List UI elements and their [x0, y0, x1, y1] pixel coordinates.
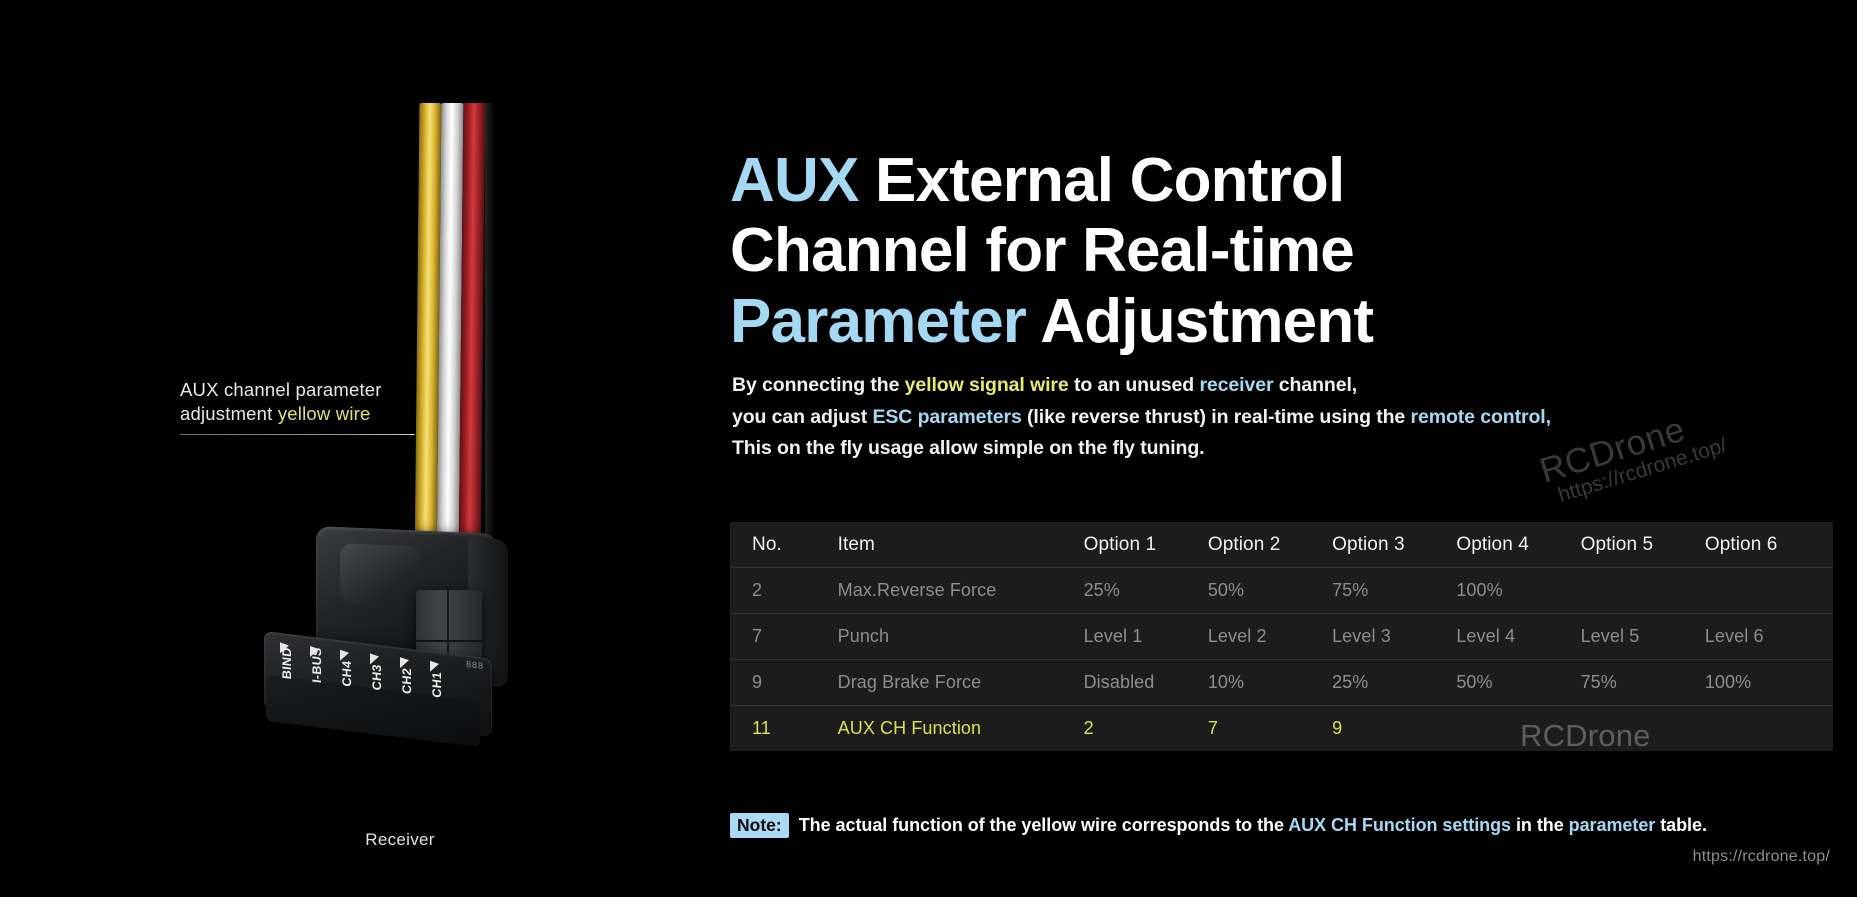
pin-label: CH1 [430, 639, 444, 699]
cell-no: 7 [730, 614, 838, 660]
headline-line2: Channel for Real-time [730, 216, 1354, 285]
cell-item: Max.Reverse Force [838, 568, 1084, 614]
table-row: 2 Max.Reverse Force 25% 50% 75% 100% [730, 568, 1833, 614]
table-row: 7 Punch Level 1 Level 2 Level 3 Level 4 … [730, 614, 1833, 660]
cell-option5 [1581, 568, 1705, 614]
page-root: AUX channel parameter adjustment yellow … [0, 0, 1857, 897]
pin-ibus: I-BUS [308, 644, 328, 712]
note-badge: Note: [730, 813, 789, 838]
table-body: 2 Max.Reverse Force 25% 50% 75% 100% 7 P… [730, 568, 1833, 752]
cell-option2: Level 2 [1208, 614, 1332, 660]
lede-yellow-signal-wire: yellow signal wire [905, 374, 1069, 396]
note-aux-ch-function: AUX CH Function settings [1288, 815, 1511, 835]
cell-option2: 7 [1208, 706, 1332, 752]
cell-option1: 2 [1084, 706, 1208, 752]
aux-wire-callout: AUX channel parameter adjustment yellow … [180, 378, 420, 427]
cell-item: Punch [838, 614, 1084, 660]
cell-option3: 75% [1332, 568, 1456, 614]
footer-url: https://rcdrone.top/ [1630, 848, 1830, 866]
cell-option2: 50% [1208, 568, 1332, 614]
table-row-highlighted: 11 AUX CH Function 2 7 9 [730, 706, 1833, 752]
cell-no: 11 [730, 706, 838, 752]
red-wire [459, 103, 486, 568]
cell-option1: Disabled [1084, 660, 1208, 706]
cell-option4 [1456, 706, 1580, 752]
headline-accent-aux: AUX [730, 146, 859, 215]
lede-p1-b: to an unused [1069, 374, 1200, 396]
headline-line1-rest: External Control [859, 146, 1345, 215]
parameter-table: No. Item Option 1 Option 2 Option 3 Opti… [730, 522, 1833, 751]
callout-leader-line [180, 434, 415, 435]
cell-option3: Level 3 [1332, 614, 1456, 660]
page-title: AUX External Control Channel for Real-ti… [730, 146, 1840, 358]
cell-option2: 10% [1208, 660, 1332, 706]
col-header-option1: Option 1 [1084, 522, 1208, 568]
lede-p1-c: channel, [1273, 374, 1357, 396]
cell-option4: 50% [1456, 660, 1580, 706]
receiver-led-indicator: 888 [466, 659, 484, 671]
pin-ch2: CH2 [398, 655, 418, 723]
product-photo-panel: AUX channel parameter adjustment yellow … [0, 0, 730, 897]
cell-item: Drag Brake Force [838, 660, 1084, 706]
cell-option5: 75% [1581, 660, 1705, 706]
content-panel: AUX External Control Channel for Real-ti… [730, 0, 1857, 897]
cell-option6: 100% [1705, 660, 1833, 706]
table-head: No. Item Option 1 Option 2 Option 3 Opti… [730, 522, 1833, 568]
pin-ch4: CH4 [338, 647, 358, 715]
pin-label: CH3 [370, 631, 384, 691]
note-text: The actual function of the yellow wire c… [799, 815, 1707, 836]
plug-seam-horizontal [416, 640, 482, 642]
note-part-b: in the [1511, 815, 1569, 835]
col-header-option2: Option 2 [1208, 522, 1332, 568]
table-header-row: No. Item Option 1 Option 2 Option 3 Opti… [730, 522, 1833, 568]
pin-ch3: CH3 [368, 651, 388, 719]
cell-option5 [1581, 706, 1705, 752]
headline-line3-rest: Adjustment [1026, 287, 1373, 356]
lede-esc-parameters: ESC parameters [872, 406, 1021, 428]
col-header-option5: Option 5 [1581, 522, 1705, 568]
pin-label: BIND [280, 620, 294, 680]
note-part-a: The actual function of the yellow wire c… [799, 815, 1289, 835]
wire-bundle [415, 103, 488, 568]
lede-p2-b: (like reverse thrust) in real-time using… [1022, 406, 1411, 428]
cell-option3: 25% [1332, 660, 1456, 706]
cell-option6 [1705, 706, 1833, 752]
cell-option4: Level 4 [1456, 614, 1580, 660]
cell-option6: Level 6 [1705, 614, 1833, 660]
cell-option1: 25% [1084, 568, 1208, 614]
lede-remote-control: remote control, [1410, 406, 1550, 428]
callout-line-1: AUX channel parameter [180, 378, 420, 402]
pin-label: I-BUS [310, 624, 324, 684]
pin-label: CH4 [340, 628, 354, 688]
headline-accent-parameter: Parameter [730, 287, 1026, 356]
cell-no: 9 [730, 660, 838, 706]
wire-shadow [485, 103, 495, 568]
lede-p2-a: you can adjust [732, 406, 872, 428]
col-header-option6: Option 6 [1705, 522, 1833, 568]
col-header-no: No. [730, 522, 838, 568]
note-parameter: parameter [1569, 815, 1656, 835]
col-header-option3: Option 3 [1332, 522, 1456, 568]
cell-item: AUX CH Function [838, 706, 1084, 752]
pin-bind: BIND [278, 640, 298, 708]
receiver-sheen [340, 543, 420, 606]
callout-prefix: adjustment [180, 403, 278, 424]
note-part-c: table. [1655, 815, 1707, 835]
receiver-caption: Receiver [300, 830, 500, 850]
callout-line-2: adjustment yellow wire [180, 402, 420, 426]
cell-option4: 100% [1456, 568, 1580, 614]
lede-p3: This on the fly usage allow simple on th… [732, 437, 1205, 459]
lede-p1-a: By connecting the [732, 374, 905, 396]
cell-option1: Level 1 [1084, 614, 1208, 660]
pin-ch1: CH1 [428, 659, 448, 727]
cell-option3: 9 [1332, 706, 1456, 752]
cell-no: 2 [730, 568, 838, 614]
note-callout: Note: The actual function of the yellow … [730, 813, 1707, 838]
intro-paragraph: By connecting the yellow signal wire to … [732, 370, 1842, 465]
lede-receiver: receiver [1199, 374, 1273, 396]
callout-yellow-wire: yellow wire [278, 403, 371, 424]
table-row: 9 Drag Brake Force Disabled 10% 25% 50% … [730, 660, 1833, 706]
pin-label: CH2 [400, 635, 414, 695]
cell-option6 [1705, 568, 1833, 614]
col-header-item: Item [838, 522, 1084, 568]
col-header-option4: Option 4 [1456, 522, 1580, 568]
cell-option5: Level 5 [1581, 614, 1705, 660]
